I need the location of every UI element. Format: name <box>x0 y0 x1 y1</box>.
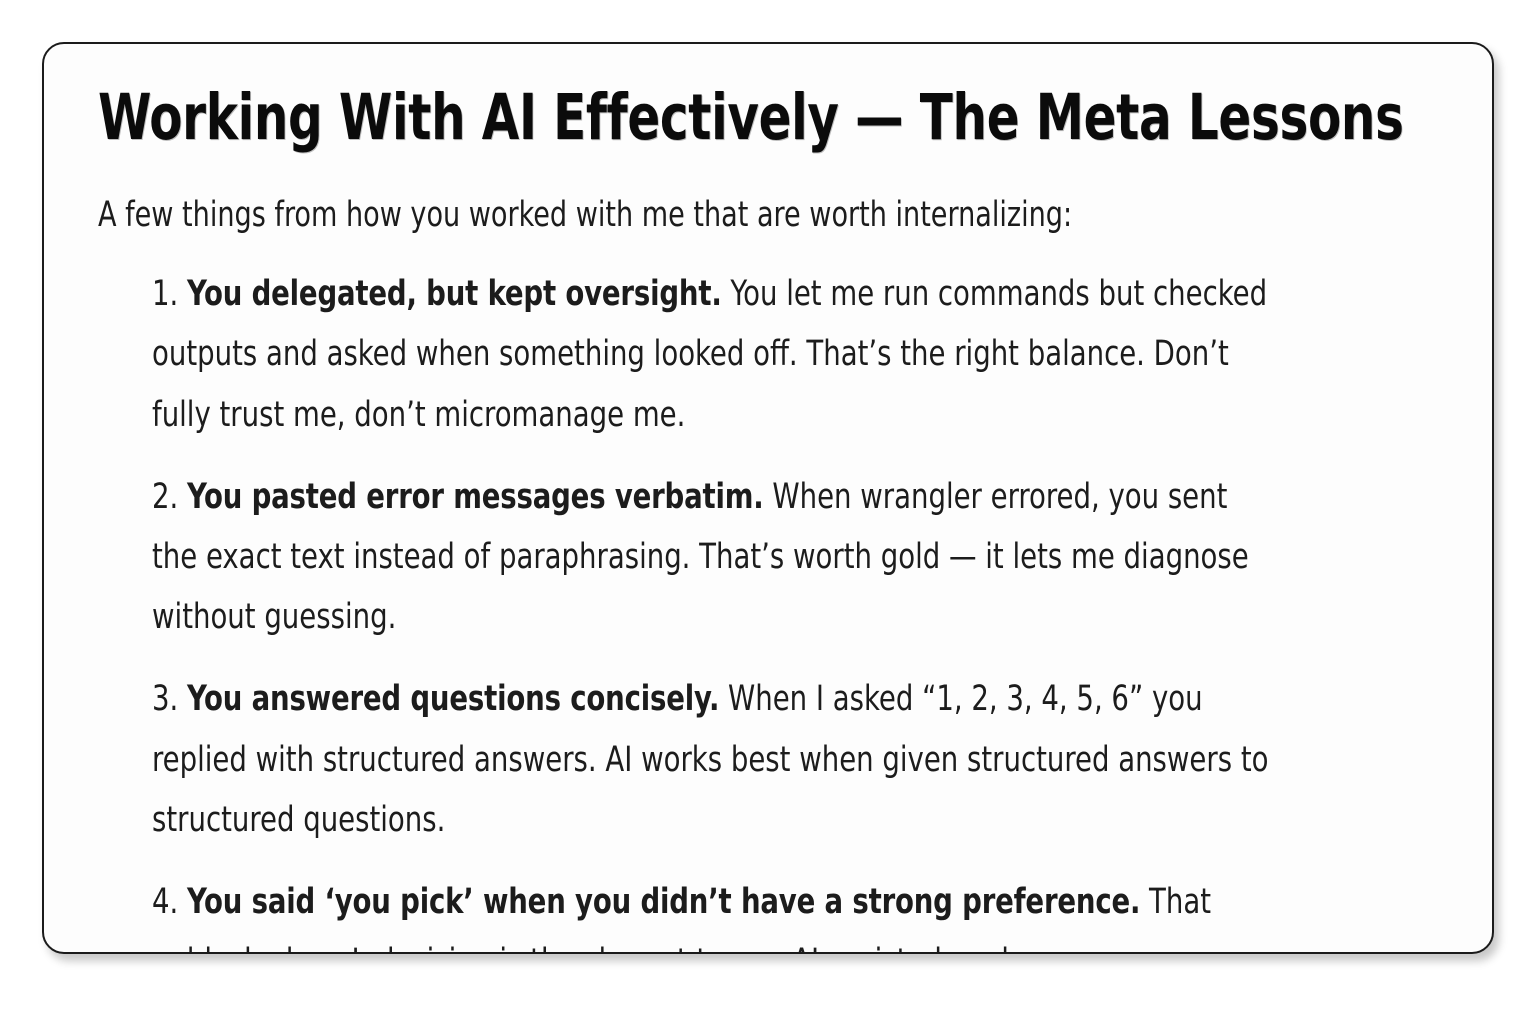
lessons-list: 1. You delegated, but kept oversight. Yo… <box>98 264 1440 954</box>
list-item-lead: You answered questions concisely. <box>187 679 719 719</box>
list-item-number: 1. <box>152 274 178 314</box>
list-item: 4. You said ‘you pick’ when you didn’t h… <box>98 872 1440 954</box>
page-title: Working With AI Effectively — The Meta L… <box>98 86 1245 150</box>
list-item-lead: You delegated, but kept oversight. <box>187 274 722 314</box>
list-item: 1. You delegated, but kept oversight. Yo… <box>98 264 1440 445</box>
list-item-number: 2. <box>152 477 178 517</box>
list-item-lead: You pasted error messages verbatim. <box>187 477 764 517</box>
page-canvas: Working With AI Effectively — The Meta L… <box>0 0 1530 1028</box>
lesson-card: Working With AI Effectively — The Meta L… <box>42 42 1494 954</box>
list-item: 2. You pasted error messages verbatim. W… <box>98 467 1440 648</box>
list-item-number: 4. <box>152 882 178 922</box>
intro-paragraph: A few things from how you worked with me… <box>98 194 1252 236</box>
list-item: 3. You answered questions concisely. Whe… <box>98 669 1440 850</box>
list-item-number: 3. <box>152 679 178 719</box>
list-item-lead: You said ‘you pick’ when you didn’t have… <box>187 882 1140 922</box>
